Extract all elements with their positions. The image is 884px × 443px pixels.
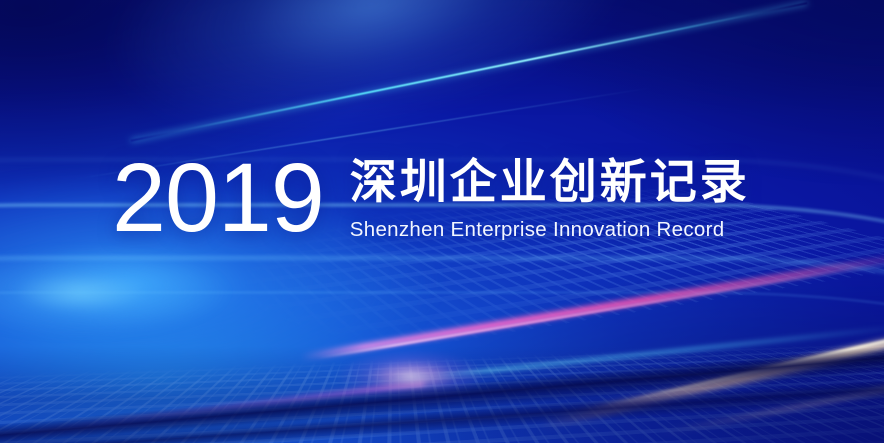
- banner-year: 2019: [112, 150, 324, 245]
- bottom-shade: [0, 346, 884, 443]
- banner-2019-shenzhen-enterprise-innovation-record: 2019 深圳企业创新记录 Shenzhen Enterprise Innova…: [0, 0, 884, 443]
- banner-title-english: Shenzhen Enterprise Innovation Record: [350, 218, 750, 243]
- left-cyan-glow-core: [0, 248, 230, 337]
- banner-title-chinese: 深圳企业创新记录: [350, 156, 750, 209]
- banner-text-block: 2019 深圳企业创新记录 Shenzhen Enterprise Innova…: [112, 150, 750, 245]
- banner-title-group: 深圳企业创新记录 Shenzhen Enterprise Innovation …: [350, 150, 750, 242]
